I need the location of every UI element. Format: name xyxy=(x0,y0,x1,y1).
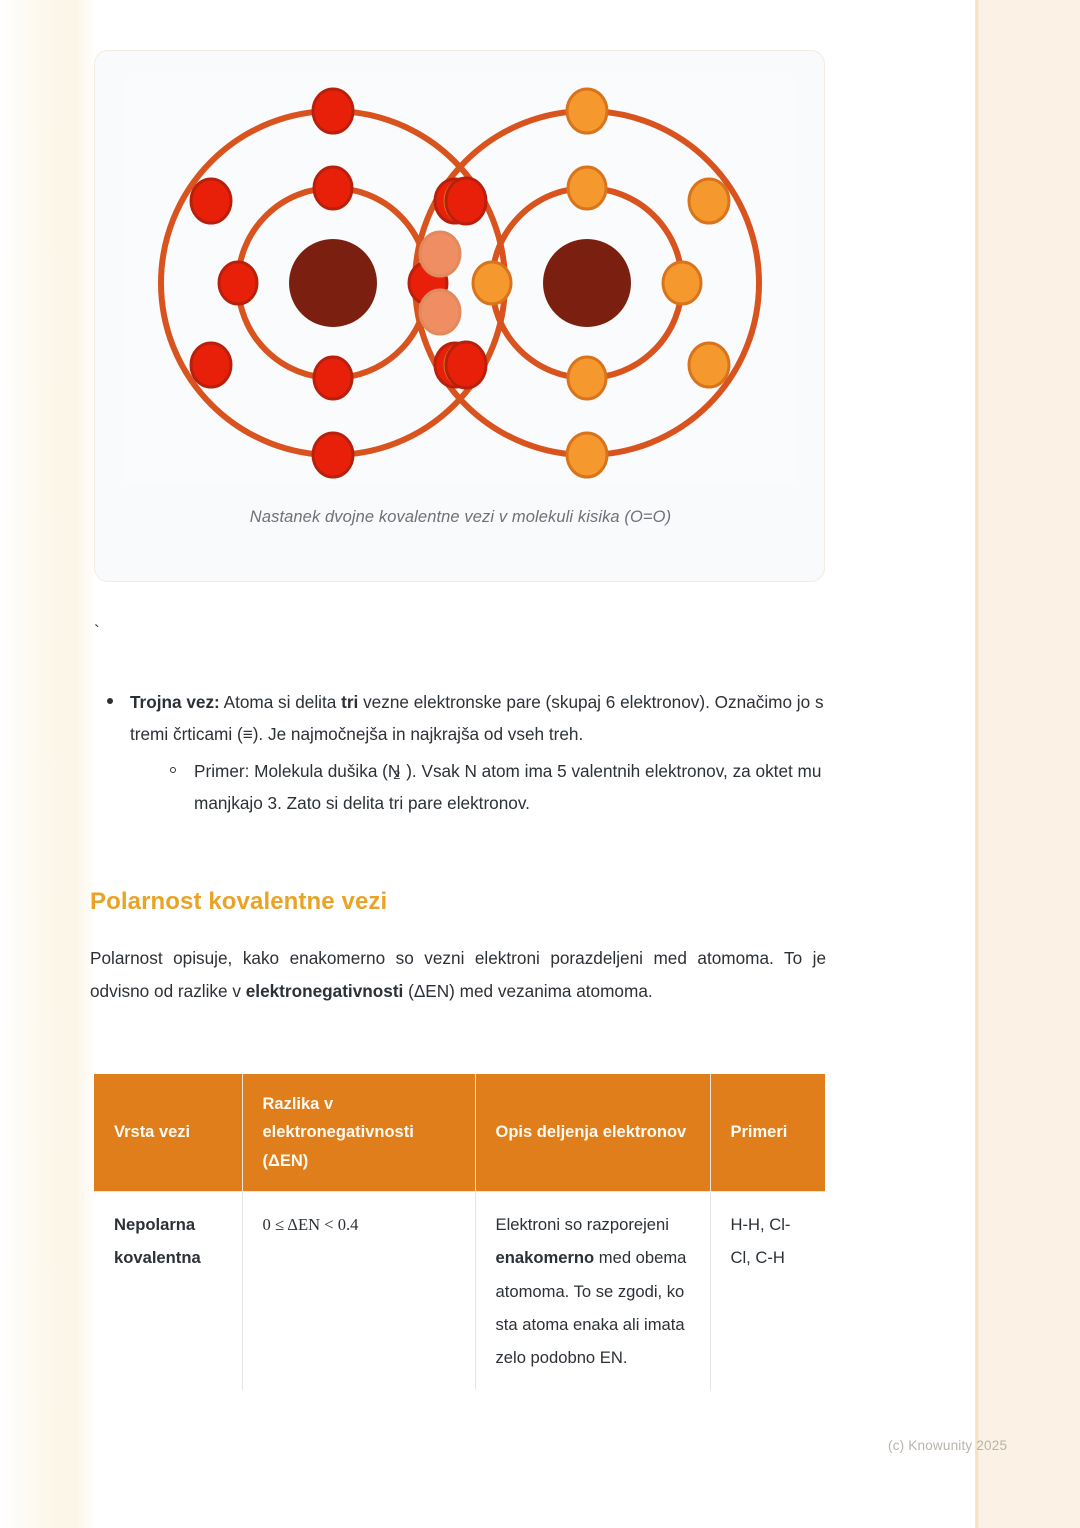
table-col-header-primeri: Primeri xyxy=(710,1074,825,1192)
figure-card: Nastanek dvojne kovalentne vezi v moleku… xyxy=(94,50,825,582)
cell-desc-part1: Elektroni so razporejeni xyxy=(496,1215,669,1234)
section-paragraph: Polarnost opisuje, kako enakomerno so ve… xyxy=(90,942,826,1008)
polarity-table: Vrsta vezi Razlika v elektronegativnosti… xyxy=(94,1074,825,1390)
page-root: Nastanek dvojne kovalentne vezi v moleku… xyxy=(0,0,1080,1528)
section-heading-polarnost: Polarnost kovalentne vezi xyxy=(90,888,387,916)
background-right-panel xyxy=(977,0,1080,1528)
figure-caption: Nastanek dvojne kovalentne vezi v moleku… xyxy=(95,508,826,527)
bullet-lead-label: Trojna vez: xyxy=(130,692,220,712)
bullet-ring-icon xyxy=(170,767,176,773)
figure-image-frame xyxy=(122,79,798,486)
cell-bond-type: Nepolarna kovalentna xyxy=(94,1192,242,1390)
table-row: Nepolarna kovalentna 0 ≤ ΔEN < 0.4 Elekt… xyxy=(94,1192,825,1390)
document-content-column: Nastanek dvojne kovalentne vezi v moleku… xyxy=(0,0,980,1528)
table-header-row: Vrsta vezi Razlika v elektronegativnosti… xyxy=(94,1074,825,1192)
formula-subscript: 2 xyxy=(393,768,399,782)
cell-en-range: 0 ≤ ΔEN < 0.4 xyxy=(242,1192,475,1390)
cell-desc-bold: enakomerno xyxy=(496,1248,595,1267)
cell-examples: H-H, Cl-Cl, C-H xyxy=(710,1192,825,1390)
paragraph-bold-term: elektronegativnosti xyxy=(246,981,404,1001)
nucleus-right xyxy=(543,239,631,327)
table-header: Vrsta vezi Razlika v elektronegativnosti… xyxy=(94,1074,825,1192)
oxygen-double-bond-diagram xyxy=(122,79,798,486)
table-col-header-razlika-en: Razlika v elektronegativnosti (ΔEN) xyxy=(242,1074,475,1192)
bullet-dot-icon xyxy=(107,698,113,704)
paragraph-part2: (ΔEN) med vezanima atomoma. xyxy=(403,981,652,1001)
bullet-bold-tri: tri xyxy=(341,692,358,712)
bullet-text-part1: Atoma si delita xyxy=(220,692,341,712)
cell-description: Elektroni so razporejeni enakomerno med … xyxy=(475,1192,710,1390)
list-item: Trojna vez: Atoma si delita tri vezne el… xyxy=(94,686,836,819)
sub-text-prefix: Primer: Molekula dušika (N xyxy=(194,761,400,781)
table-col-header-vrsta-vezi: Vrsta vezi xyxy=(94,1074,242,1192)
table-body: Nepolarna kovalentna 0 ≤ ΔEN < 0.4 Elekt… xyxy=(94,1192,825,1390)
bond-type-list: Trojna vez: Atoma si delita tri vezne el… xyxy=(94,686,836,819)
list-item-sub: Primer: Molekula dušika (N2). Vsak N ato… xyxy=(130,755,836,820)
copyright-watermark: (c) Knowunity 2025 xyxy=(888,1438,1007,1453)
table-col-header-opis: Opis deljenja elektronov xyxy=(475,1074,710,1192)
stray-backtick-text: ` xyxy=(94,623,100,640)
nucleus-left xyxy=(289,239,377,327)
